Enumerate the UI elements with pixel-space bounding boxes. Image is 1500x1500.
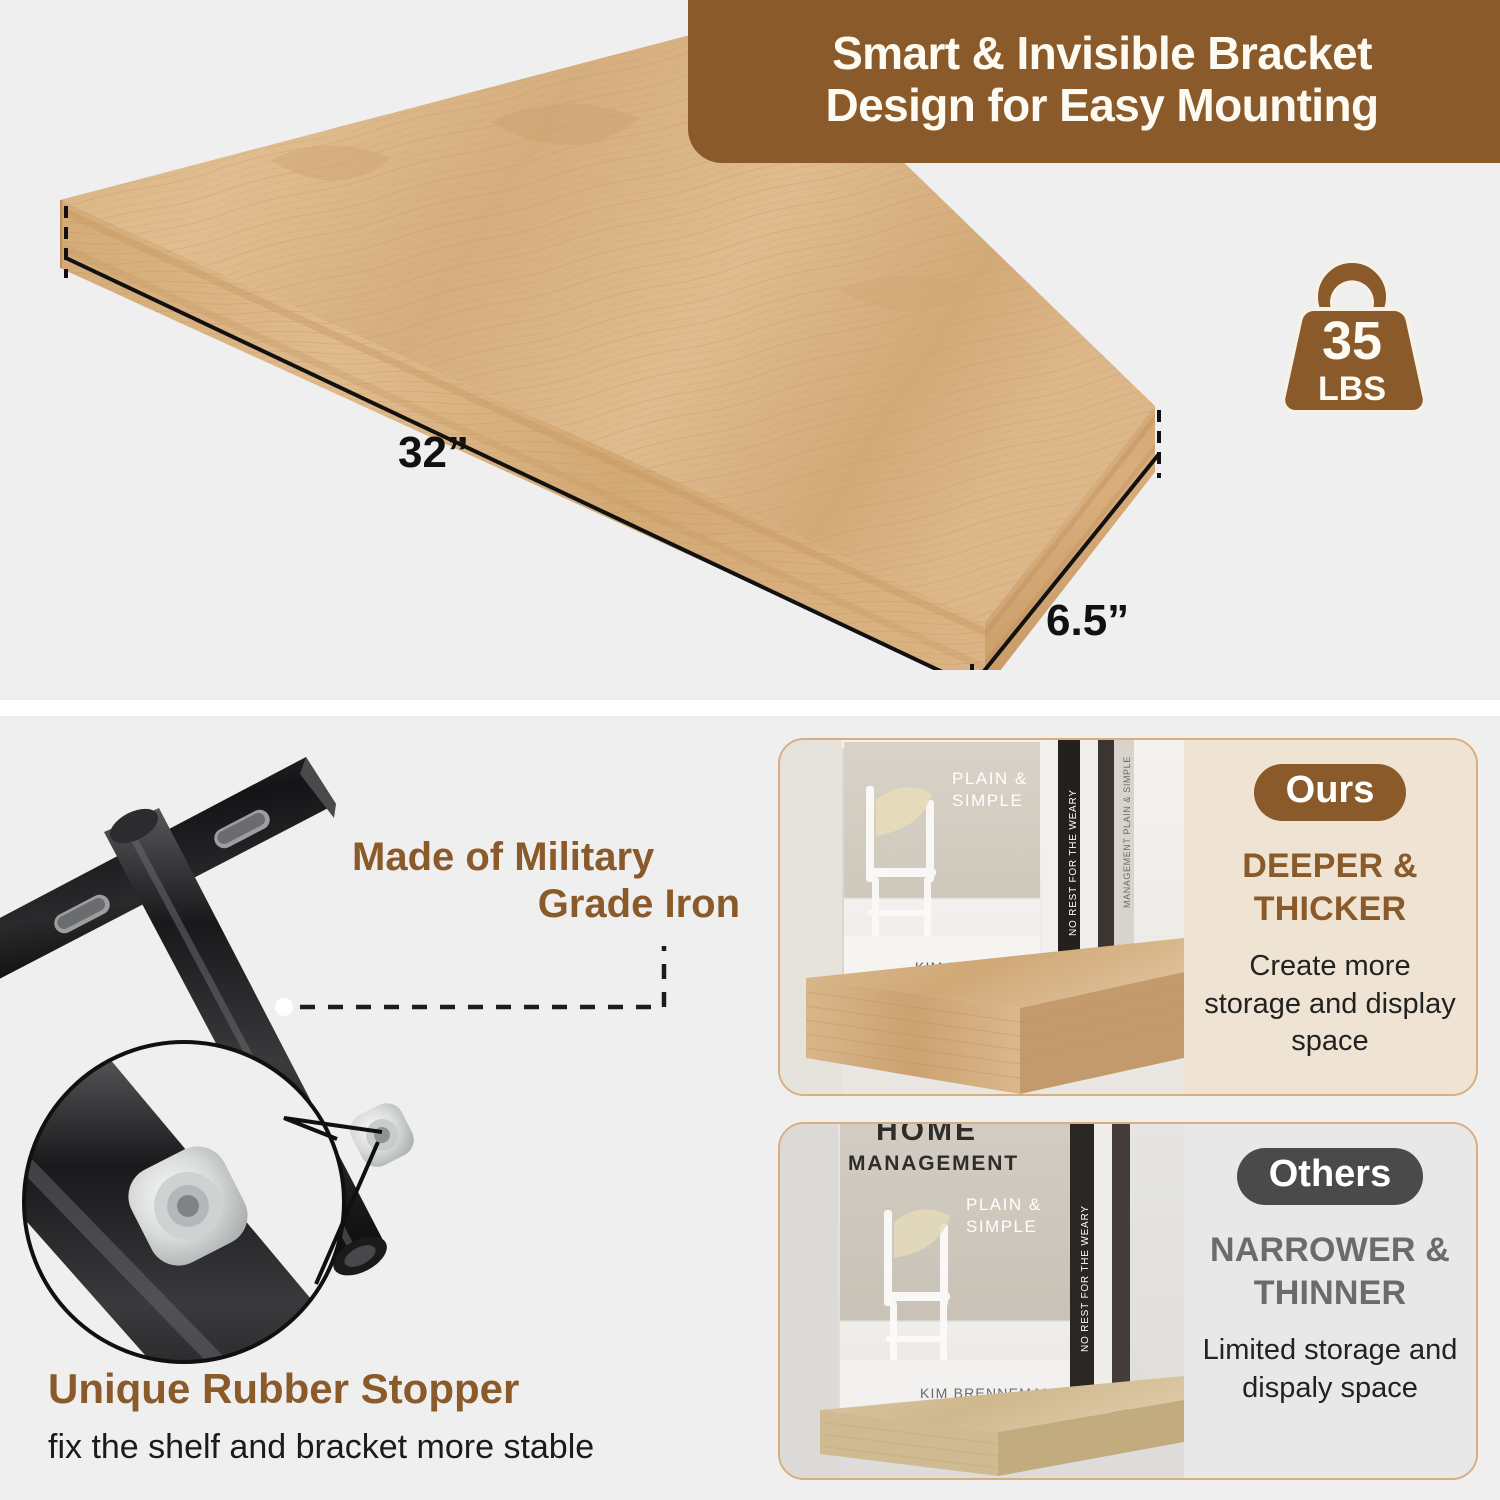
bottom-section-features: Made of Military Grade Iron Unique Rubbe… xyxy=(0,716,1500,1500)
comparison-card-ours: PLAIN & SIMPLE KIM BRENNEMAN NO REST FOR… xyxy=(778,738,1478,1096)
bracket-illustration xyxy=(0,722,744,1422)
svg-text:NO REST FOR THE WEARY: NO REST FOR THE WEARY xyxy=(1080,1205,1091,1352)
dimension-label-length: 32” xyxy=(398,428,469,478)
callout-dot-icon xyxy=(275,998,293,1016)
svg-text:MANAGEMENT PLAIN & SIMPLE: MANAGEMENT PLAIN & SIMPLE xyxy=(1122,756,1132,908)
svg-text:SIMPLE: SIMPLE xyxy=(966,1217,1037,1236)
iron-heading: Made of Military Grade Iron xyxy=(330,834,740,928)
callout-leader-line xyxy=(300,946,664,1007)
header-title-line1: Smart & Invisible Bracket xyxy=(832,28,1372,80)
weight-kettlebell-icon: 35 LBS xyxy=(1268,255,1436,423)
comparison-card-others: HOME MANAGEMENT PLAIN & SIMPLE xyxy=(778,1122,1478,1480)
ours-body: Create more storage and display space xyxy=(1198,948,1462,1061)
svg-text:NO REST FOR THE WEARY: NO REST FOR THE WEARY xyxy=(1068,789,1079,936)
header-title-line2: Design for Easy Mounting xyxy=(826,80,1379,132)
ours-text-panel: Ours DEEPER & THICKER Create more storag… xyxy=(1184,740,1476,1094)
stopper-heading: Unique Rubber Stopper xyxy=(48,1366,748,1412)
ours-shelf-photo: PLAIN & SIMPLE KIM BRENNEMAN NO REST FOR… xyxy=(780,740,1184,1094)
ours-title: DEEPER & THICKER xyxy=(1198,845,1462,932)
ours-badge: Ours xyxy=(1254,764,1407,821)
svg-text:MANAGEMENT: MANAGEMENT xyxy=(848,1152,1019,1175)
iron-heading-line1: Made of Military xyxy=(330,834,740,881)
svg-text:PLAIN &: PLAIN & xyxy=(966,1195,1042,1214)
dimension-label-depth: 6.5” xyxy=(1046,596,1129,646)
weight-value: 35 xyxy=(1322,311,1382,371)
header-banner: Smart & Invisible Bracket Design for Eas… xyxy=(688,0,1500,163)
weight-capacity-badge: 35 LBS xyxy=(1268,255,1436,423)
rubber-stopper-on-rod xyxy=(344,1097,419,1172)
top-section-shelf-dimensions: 32” 6.5” 35 LBS Smart & Invisible Bracke… xyxy=(0,0,1500,700)
others-photo-svg: HOME MANAGEMENT PLAIN & SIMPLE xyxy=(780,1124,1184,1478)
others-text-panel: Others NARROWER & THINNER Limited storag… xyxy=(1184,1124,1476,1478)
others-badge: Others xyxy=(1237,1148,1423,1205)
stopper-subtitle: fix the shelf and bracket more stable xyxy=(48,1428,768,1467)
bracket-feature-area: Made of Military Grade Iron Unique Rubbe… xyxy=(0,716,760,1500)
product-infographic: 32” 6.5” 35 LBS Smart & Invisible Bracke… xyxy=(0,0,1500,1500)
svg-text:HOME: HOME xyxy=(876,1124,978,1147)
iron-heading-line2: Grade Iron xyxy=(330,881,740,928)
ours-photo-svg: PLAIN & SIMPLE KIM BRENNEMAN NO REST FOR… xyxy=(780,740,1184,1094)
others-shelf-photo: HOME MANAGEMENT PLAIN & SIMPLE xyxy=(780,1124,1184,1478)
section-divider xyxy=(0,700,1500,716)
svg-text:PLAIN &: PLAIN & xyxy=(952,769,1028,788)
svg-text:SIMPLE: SIMPLE xyxy=(952,791,1023,810)
comparison-cards: PLAIN & SIMPLE KIM BRENNEMAN NO REST FOR… xyxy=(778,738,1478,1480)
others-title: NARROWER & THINNER xyxy=(1198,1229,1462,1316)
others-body: Limited storage and dispaly space xyxy=(1198,1332,1462,1407)
weight-unit: LBS xyxy=(1318,370,1386,408)
